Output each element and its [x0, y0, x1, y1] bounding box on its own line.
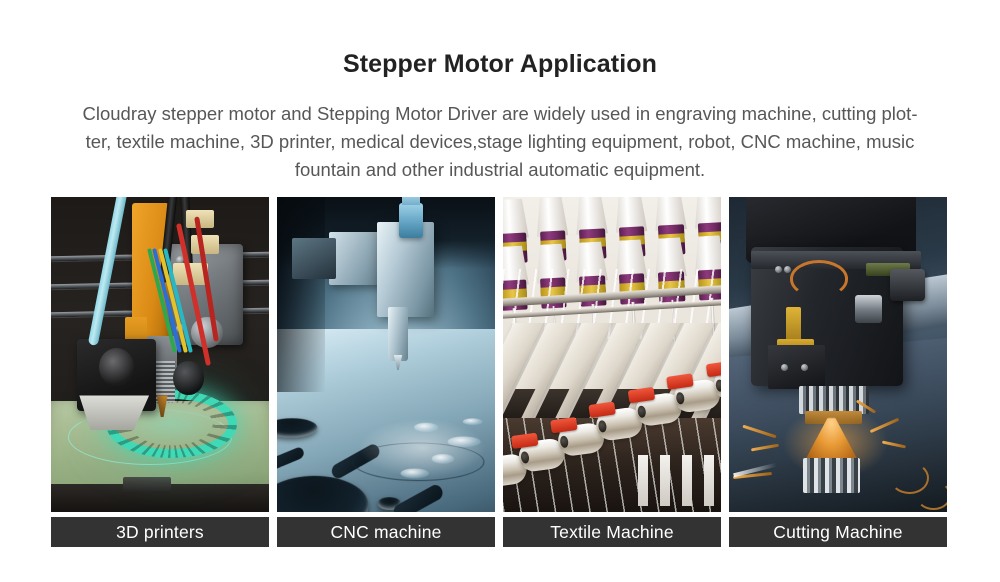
photo-textile-machine — [503, 197, 721, 512]
caption-cnc-machine: CNC machine — [277, 517, 495, 547]
machine-side-shadow — [277, 197, 325, 392]
arm-mounting-block — [292, 238, 336, 279]
secondary-fan — [173, 361, 204, 396]
gallery-card-cutting-machine[interactable]: Cutting Machine — [729, 197, 947, 547]
orange-hose-loop — [790, 260, 848, 298]
metal-swarf-curl — [916, 481, 947, 510]
silver-cylinder — [855, 295, 881, 323]
red-clip — [705, 361, 721, 377]
bobbin — [660, 455, 670, 505]
bobbin — [704, 455, 714, 505]
machined-hole — [277, 418, 318, 438]
screw-icon — [801, 364, 808, 371]
stepper-motor-hub — [191, 317, 224, 349]
page-title: Stepper Motor Application — [0, 50, 1000, 79]
machined-slot — [277, 446, 305, 475]
cooling-fan-hub — [99, 348, 134, 386]
caption-textile-machine: Textile Machine — [503, 517, 721, 547]
gallery-card-cnc-machine[interactable]: CNC machine — [277, 197, 495, 547]
application-page: Stepper Motor Application Cloudray stepp… — [0, 0, 1000, 582]
workpiece-chuck — [803, 458, 860, 493]
bobbin — [682, 455, 692, 505]
application-gallery: 3D printers — [51, 197, 949, 547]
gallery-card-textile-machine[interactable]: Textile Machine — [503, 197, 721, 547]
photo-cnc-machine — [277, 197, 495, 512]
adjustment-knob[interactable] — [890, 269, 925, 301]
blue-cable-gland — [399, 203, 423, 238]
filament-ptfe-tube — [87, 197, 128, 346]
caption-3d-printers: 3D printers — [51, 517, 269, 547]
gallery-card-3d-printers[interactable]: 3D printers — [51, 197, 269, 547]
screw-icon — [784, 266, 791, 273]
cylinder-bore — [277, 476, 369, 512]
machined-slot — [392, 484, 445, 512]
spindle-quill — [388, 307, 408, 361]
surface-highlight — [357, 418, 489, 478]
photo-3d-printer — [51, 197, 269, 512]
photo-cutting-machine — [729, 197, 947, 512]
intro-paragraph: Cloudray stepper motor and Stepping Moto… — [50, 100, 950, 184]
caption-cutting-machine: Cutting Machine — [729, 517, 947, 547]
bed-clip — [123, 477, 171, 493]
black-mounting-plate — [768, 345, 825, 389]
